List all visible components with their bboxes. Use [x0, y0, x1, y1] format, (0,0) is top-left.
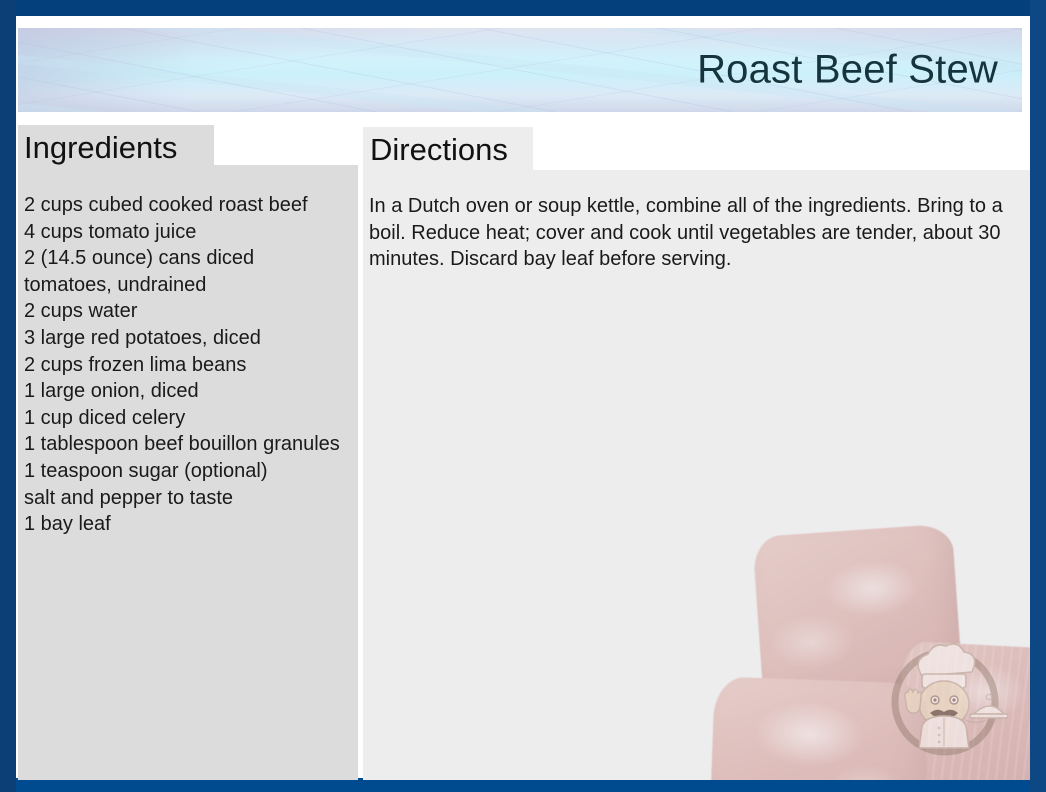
- list-item: salt and pepper to taste: [24, 485, 346, 512]
- recipe-title: Roast Beef Stew: [697, 48, 998, 93]
- ingredients-list: 2 cups cubed cooked roast beef 4 cups to…: [24, 192, 346, 538]
- list-item: 2 cups cubed cooked roast beef: [24, 192, 346, 219]
- card-border-top: [0, 0, 1046, 16]
- recipe-card: Roast Beef Stew Ingredients 2 cups cubed…: [0, 0, 1046, 792]
- list-item: 1 cup diced celery: [24, 405, 346, 432]
- list-item: 2 cups water: [24, 298, 346, 325]
- list-item: 3 large red potatoes, diced: [24, 325, 346, 352]
- card-border-right: [1030, 0, 1046, 792]
- list-item: 1 tablespoon beef bouillon granules: [24, 431, 346, 458]
- title-banner: Roast Beef Stew: [18, 28, 1022, 112]
- card-border-bottom: [0, 778, 1046, 792]
- directions-body: In a Dutch oven or soup kettle, combine …: [369, 193, 1013, 273]
- list-item: 1 bay leaf: [24, 511, 346, 538]
- chef-logo: [882, 636, 1008, 762]
- ingredients-heading: Ingredients: [24, 130, 177, 166]
- list-item: 1 teaspoon sugar (optional): [24, 458, 346, 485]
- directions-heading: Directions: [370, 132, 508, 168]
- list-item: 4 cups tomato juice: [24, 219, 346, 246]
- list-item: 1 large onion, diced: [24, 378, 346, 405]
- list-item: 2 (14.5 ounce) cans diced tomatoes, undr…: [24, 245, 346, 298]
- card-border-left: [0, 0, 16, 792]
- list-item: 2 cups frozen lima beans: [24, 352, 346, 379]
